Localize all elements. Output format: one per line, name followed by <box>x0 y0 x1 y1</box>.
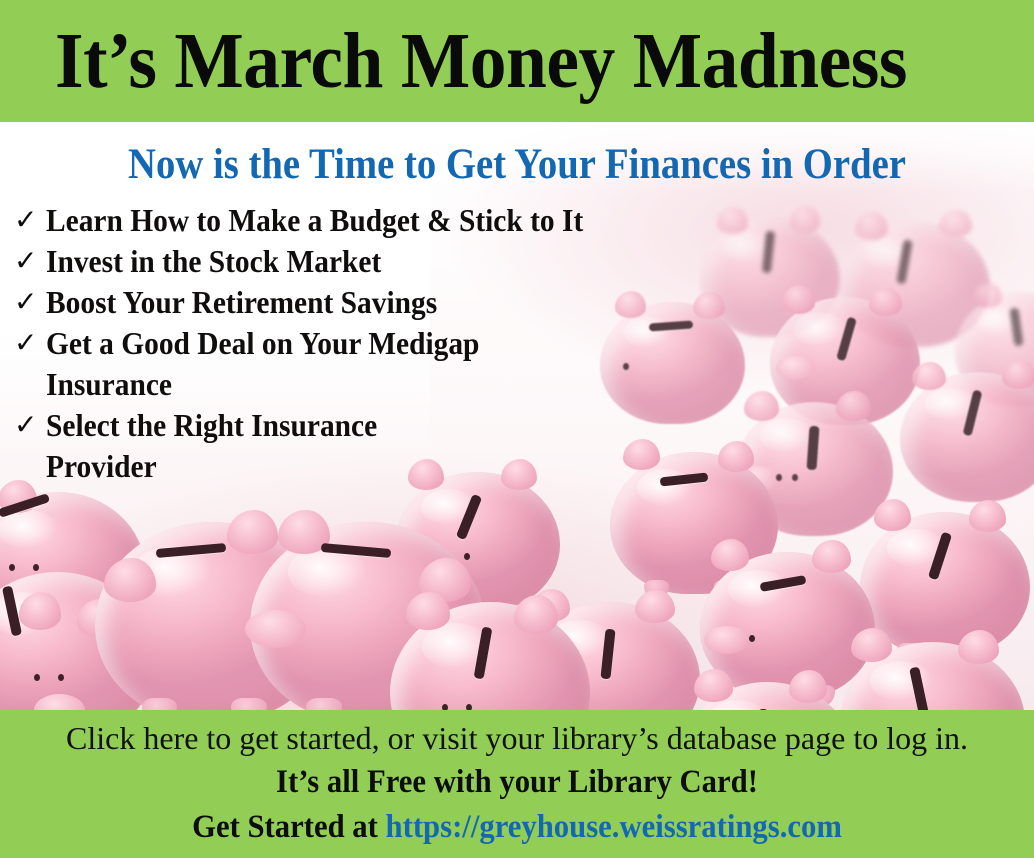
page-title: It’s March Money Madness <box>55 22 907 101</box>
list-item: ✓ Select the Right Insurance Provider <box>14 405 714 487</box>
subtitle: Now is the Time to Get Your Finances in … <box>52 140 983 189</box>
header-band: It’s March Money Madness <box>0 0 1034 122</box>
check-icon: ✓ <box>14 323 46 364</box>
promo-banner: It’s March Money Madness <box>0 0 1034 858</box>
list-item-label: Select the Right Insurance Provider <box>46 405 377 487</box>
footer-get-started-prefix: Get Started at <box>192 809 385 845</box>
footer-band: Click here to get started, or visit your… <box>0 710 1034 858</box>
check-icon: ✓ <box>14 241 46 282</box>
footer-get-started: Get Started at https://greyhouse.weissra… <box>36 804 998 850</box>
main-content: Now is the Time to Get Your Finances in … <box>0 122 1034 712</box>
list-item: ✓ Get a Good Deal on Your Medigap Insura… <box>14 323 714 405</box>
list-item-label: Learn How to Make a Budget & Stick to It <box>46 200 583 241</box>
list-item-label: Boost Your Retirement Savings <box>46 282 437 323</box>
list-item-label: Invest in the Stock Market <box>46 241 381 282</box>
check-icon: ✓ <box>14 405 46 446</box>
list-item: ✓ Invest in the Stock Market <box>14 241 714 282</box>
check-icon: ✓ <box>14 282 46 323</box>
check-icon: ✓ <box>14 200 46 241</box>
footer-free-notice: It’s all Free with your Library Card! <box>36 760 998 804</box>
list-item-label: Get a Good Deal on Your Medigap Insuranc… <box>46 323 479 405</box>
footer-instructions[interactable]: Click here to get started, or visit your… <box>0 710 1034 760</box>
list-item: ✓ Boost Your Retirement Savings <box>14 282 714 323</box>
weiss-ratings-link[interactable]: https://greyhouse.weissratings.com <box>386 809 842 845</box>
list-item: ✓ Learn How to Make a Budget & Stick to … <box>14 200 714 241</box>
benefits-list: ✓ Learn How to Make a Budget & Stick to … <box>14 200 714 487</box>
